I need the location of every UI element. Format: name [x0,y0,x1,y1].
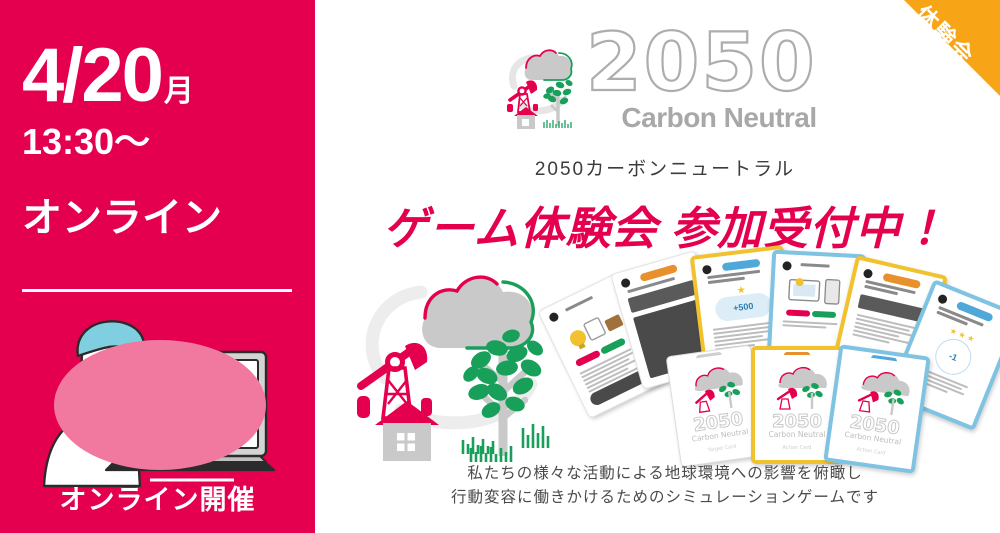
event-date-number: 4/20 [22,33,162,118]
event-day-of-week: 月 [164,75,194,108]
description-caption: 私たちの様々な活動による地球環境への影響を俯瞰し 行動変容に働きかけるためのシミ… [330,462,1000,510]
card-back-logo: 2050 Carbon Neutral Action Card [833,354,920,463]
brand-logo-block: 2050 Carbon Neutral 2050カーボンニュートラル [330,26,1000,176]
panel-divider [22,289,292,292]
card-badge-icon [782,261,791,270]
event-info-panel: 4/20月 13:30〜 オンライン [0,0,315,533]
logo-wordmark: 2050 Carbon Neutral [586,26,817,134]
illustration-oval-backdrop [54,340,266,470]
card-badge-icon [702,265,712,275]
event-venue: オンライン [22,198,222,238]
card-back-logo: 2050 Carbon Neutral Action Card [760,355,834,455]
svg-text:Target Card: Target Card [706,444,736,454]
logo-year: 2050 [586,26,817,100]
game-card-fan: ★ +500 [555,250,995,465]
logo-mark-svg [500,42,580,132]
logo-row: 2050 Carbon Neutral [500,26,817,134]
cloud-oilpump-tree-icon [500,42,580,132]
card-back-face: 2050 Carbon Neutral Action Card [760,355,834,455]
card-back-logo: 2050 Carbon Neutral Target Card [672,351,759,460]
card-badge-icon [620,277,631,288]
logo-english: Carbon Neutral [586,102,817,134]
poster-root: 4/20月 13:30〜 オンライン [0,0,1000,533]
online-event-label: オンライン開催 [0,478,315,517]
laptop-video-meeting-illustration [22,318,292,488]
svg-text:2050: 2050 [772,411,822,432]
card-back-face: 2050 Carbon Neutral Action Card [833,354,920,463]
card-art-icon [786,275,853,308]
card-badge-icon [863,268,874,279]
card-back: 2050 Carbon Neutral Action Card [823,344,931,474]
carbon-cycle-svg [345,258,575,463]
card-back-face: 2050 Carbon Neutral Target Card [672,351,759,460]
caption-line-1: 私たちの様々な活動による地球環境への影響を俯瞰し [330,462,1000,486]
svg-text:Action Card: Action Card [856,447,886,457]
caption-line-2: 行動変容に働きかけるためのシミュレーションゲームです [330,486,1000,510]
card-badge-icon [937,293,949,305]
logo-japanese: 2050カーボンニュートラル [330,154,1000,181]
card-badge-icon [548,311,560,323]
svg-text:Action Card: Action Card [783,445,812,451]
card-value: +500 [714,292,773,323]
page-title: ゲーム体験会 参加受付中！ [330,192,1000,257]
carbon-cycle-illustration [345,258,575,463]
event-time: 13:30〜 [22,124,150,160]
svg-text:Carbon Neutral: Carbon Neutral [768,430,825,439]
event-date: 4/20月 [22,38,194,114]
